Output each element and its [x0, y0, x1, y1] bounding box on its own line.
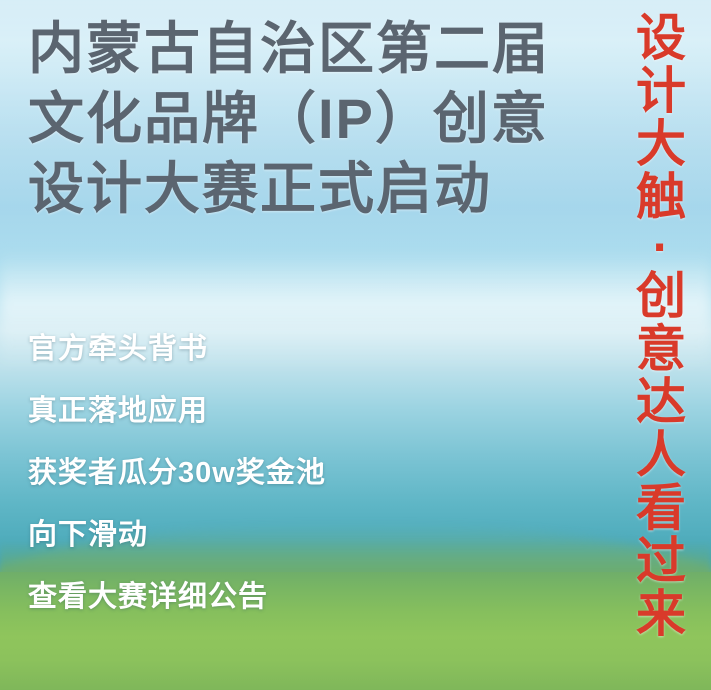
title-line-2: 文化品牌（IP）创意 — [28, 84, 588, 154]
slogan-char-2: 计 — [636, 65, 686, 118]
slogan-char-8: 达 — [636, 376, 686, 429]
poster-title: 内蒙古自治区第二届 文化品牌（IP）创意 设计大赛正式启动 — [28, 14, 588, 224]
slogan-char-6: 创 — [636, 270, 686, 323]
poster-image: 内蒙古自治区第二届 文化品牌（IP）创意 设计大赛正式启动 官方牵头背书 真正落… — [0, 0, 711, 690]
title-line-3: 设计大赛正式启动 — [28, 154, 588, 224]
bullet-item-2: 真正落地应用 — [28, 380, 588, 442]
slogan-char-4: 触 — [636, 171, 686, 224]
slogan-char-separator: · — [653, 224, 670, 270]
slogan-char-10: 看 — [636, 482, 686, 535]
slogan-char-11: 过 — [636, 535, 686, 588]
bullet-item-4: 向下滑动 — [28, 504, 588, 566]
title-line-1: 内蒙古自治区第二届 — [28, 14, 588, 84]
vertical-slogan: 设 计 大 触 · 创 意 达 人 看 过 来 — [625, 12, 697, 652]
slogan-char-7: 意 — [636, 323, 686, 376]
bullet-item-3: 获奖者瓜分30w奖金池 — [28, 442, 588, 504]
poster-bullet-list: 官方牵头背书 真正落地应用 获奖者瓜分30w奖金池 向下滑动 查看大赛详细公告 — [28, 318, 588, 628]
slogan-char-1: 设 — [636, 12, 686, 65]
slogan-char-3: 大 — [636, 118, 686, 171]
bullet-item-1: 官方牵头背书 — [28, 318, 588, 380]
bullet-item-5: 查看大赛详细公告 — [28, 566, 588, 628]
slogan-char-9: 人 — [636, 429, 686, 482]
slogan-char-12: 来 — [636, 588, 686, 641]
